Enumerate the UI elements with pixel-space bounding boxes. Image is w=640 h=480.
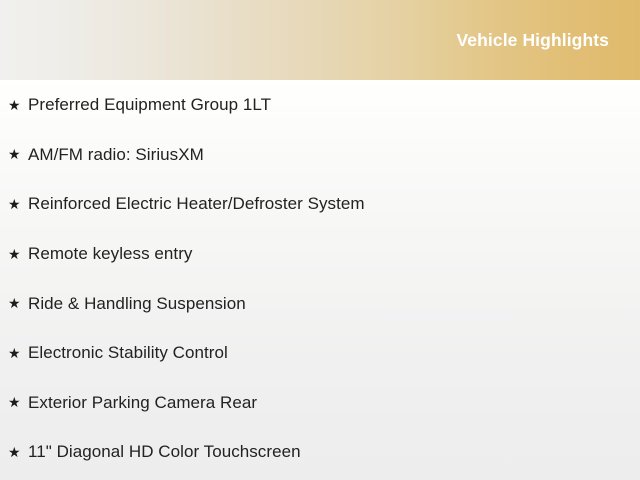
list-item[interactable]: ★ Exterior Parking Camera Rear	[0, 378, 640, 428]
list-item-label: Exterior Parking Camera Rear	[28, 392, 257, 413]
star-icon: ★	[8, 197, 28, 211]
list-item[interactable]: ★ Reinforced Electric Heater/Defroster S…	[0, 179, 640, 229]
vehicle-highlights-panel: Vehicle Highlights ★ Preferred Equipment…	[0, 0, 640, 480]
list-item-label: AM/FM radio: SiriusXM	[28, 144, 204, 165]
list-item[interactable]: ★ Ride & Handling Suspension	[0, 278, 640, 328]
star-icon: ★	[8, 147, 28, 161]
list-item-label: Remote keyless entry	[28, 243, 192, 264]
list-item-label: Preferred Equipment Group 1LT	[28, 94, 271, 115]
list-item-label: 11" Diagonal HD Color Touchscreen	[28, 441, 301, 462]
list-item[interactable]: ★ Preferred Equipment Group 1LT	[0, 80, 640, 130]
list-item[interactable]: ★ 11" Diagonal HD Color Touchscreen	[0, 427, 640, 477]
list-item-label: Electronic Stability Control	[28, 342, 228, 363]
list-item[interactable]: ★ AM/FM radio: SiriusXM	[0, 130, 640, 180]
star-icon: ★	[8, 247, 28, 261]
list-item[interactable]: ★ Electronic Stability Control	[0, 328, 640, 378]
highlights-body: ★ Preferred Equipment Group 1LT ★ AM/FM …	[0, 80, 640, 480]
list-item-label: Reinforced Electric Heater/Defroster Sys…	[28, 193, 365, 214]
list-item[interactable]: ★ Remote keyless entry	[0, 229, 640, 279]
star-icon: ★	[8, 395, 28, 409]
star-icon: ★	[8, 98, 28, 112]
star-icon: ★	[8, 346, 28, 360]
header-banner: Vehicle Highlights	[0, 0, 640, 80]
highlights-list: ★ Preferred Equipment Group 1LT ★ AM/FM …	[0, 80, 640, 477]
star-icon: ★	[8, 445, 28, 459]
page-title: Vehicle Highlights	[456, 30, 609, 51]
star-icon: ★	[8, 296, 28, 310]
list-item-label: Ride & Handling Suspension	[28, 293, 246, 314]
